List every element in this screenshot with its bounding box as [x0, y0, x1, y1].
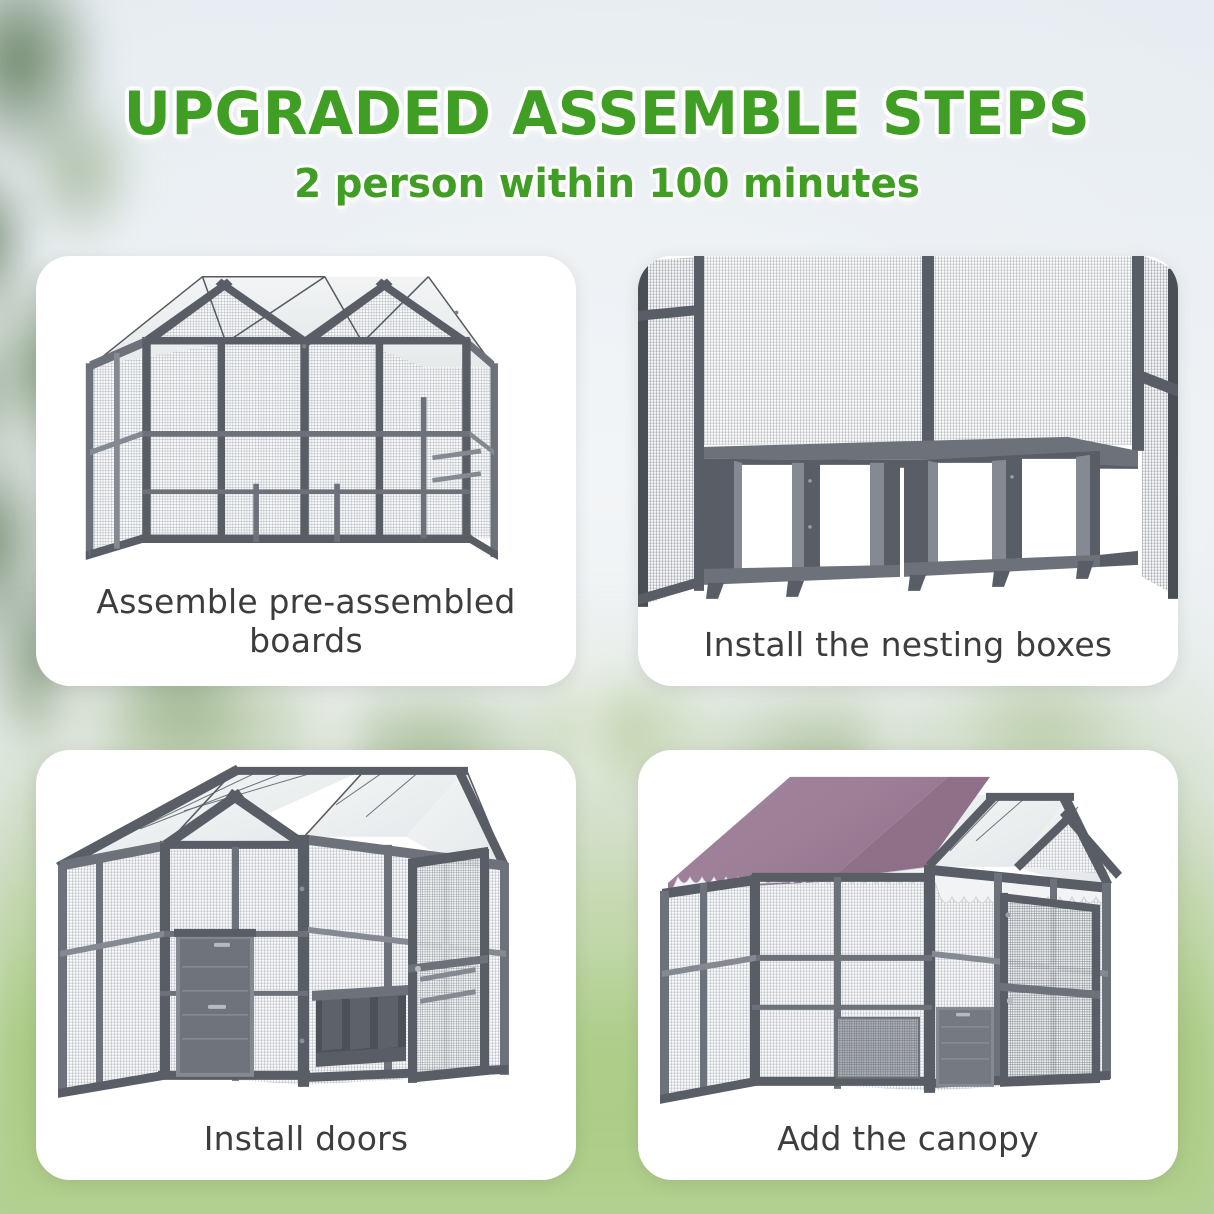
step-card-2: Install the nesting boxes — [638, 256, 1178, 686]
step-2-caption: Install the nesting boxes — [638, 626, 1178, 686]
step-1-caption: Assemble pre-assembled boards — [36, 583, 576, 686]
step-card-3: Install doors — [36, 750, 576, 1180]
step-3-caption-line-1: Install doors — [204, 1119, 409, 1158]
page-subtitle: 2 person within 100 minutes — [18, 163, 1196, 205]
coop-frame-assembled-illustration — [36, 256, 576, 583]
step-1-caption-line-1: Assemble pre-assembled — [96, 582, 515, 621]
steps-grid: Assemble pre-assembled boards — [36, 256, 1178, 1180]
step-4-caption: Add the canopy — [638, 1120, 1178, 1180]
coop-with-canopy-illustration — [638, 750, 1178, 1120]
step-4-figure — [638, 750, 1178, 1120]
step-4-caption-line-1: Add the canopy — [777, 1119, 1039, 1158]
step-1-caption-line-2: boards — [249, 621, 363, 660]
coop-with-doors-illustration — [36, 750, 576, 1120]
header: UPGRADED ASSEMBLE STEPS 2 person within … — [0, 84, 1214, 205]
infographic-page: UPGRADED ASSEMBLE STEPS 2 person within … — [0, 0, 1214, 1214]
step-2-caption-line-1: Install the nesting boxes — [704, 625, 1112, 664]
step-card-4: Add the canopy — [638, 750, 1178, 1180]
page-title: UPGRADED ASSEMBLE STEPS — [18, 84, 1196, 145]
step-3-caption: Install doors — [36, 1120, 576, 1180]
nesting-boxes-closeup-illustration — [638, 256, 1178, 626]
step-1-figure — [36, 256, 576, 583]
step-2-figure — [638, 256, 1178, 626]
step-card-1: Assemble pre-assembled boards — [36, 256, 576, 686]
step-3-figure — [36, 750, 576, 1120]
